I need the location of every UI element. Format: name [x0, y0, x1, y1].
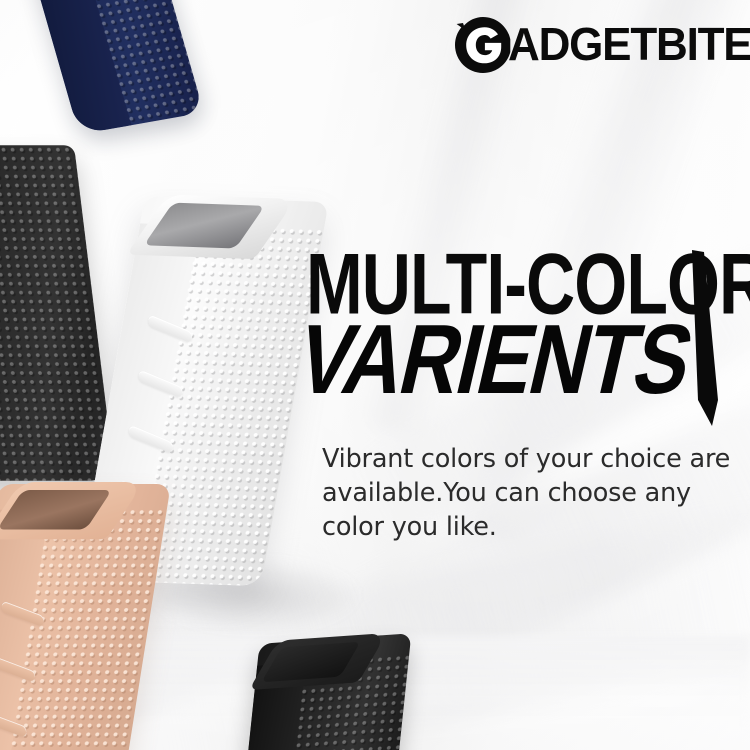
headline-line-2: VARIENTS: [290, 317, 714, 402]
power-bank-case-black-bottom: [239, 633, 412, 750]
body-copy: Vibrant colors of your choice are availa…: [322, 443, 742, 545]
brand-wordmark: ADGETBITE: [508, 22, 750, 69]
brand-logo: ADGETBITE: [452, 14, 750, 76]
body-copy-text: Vibrant colors of your choice are availa…: [322, 443, 742, 545]
promo-banner: ADGETBITE MULTI-COLOR VARIENTS Vibrant c…: [0, 0, 750, 750]
gadgetbite-g-badge-icon: [452, 14, 514, 76]
headline: MULTI-COLOR VARIENTS: [306, 246, 750, 393]
